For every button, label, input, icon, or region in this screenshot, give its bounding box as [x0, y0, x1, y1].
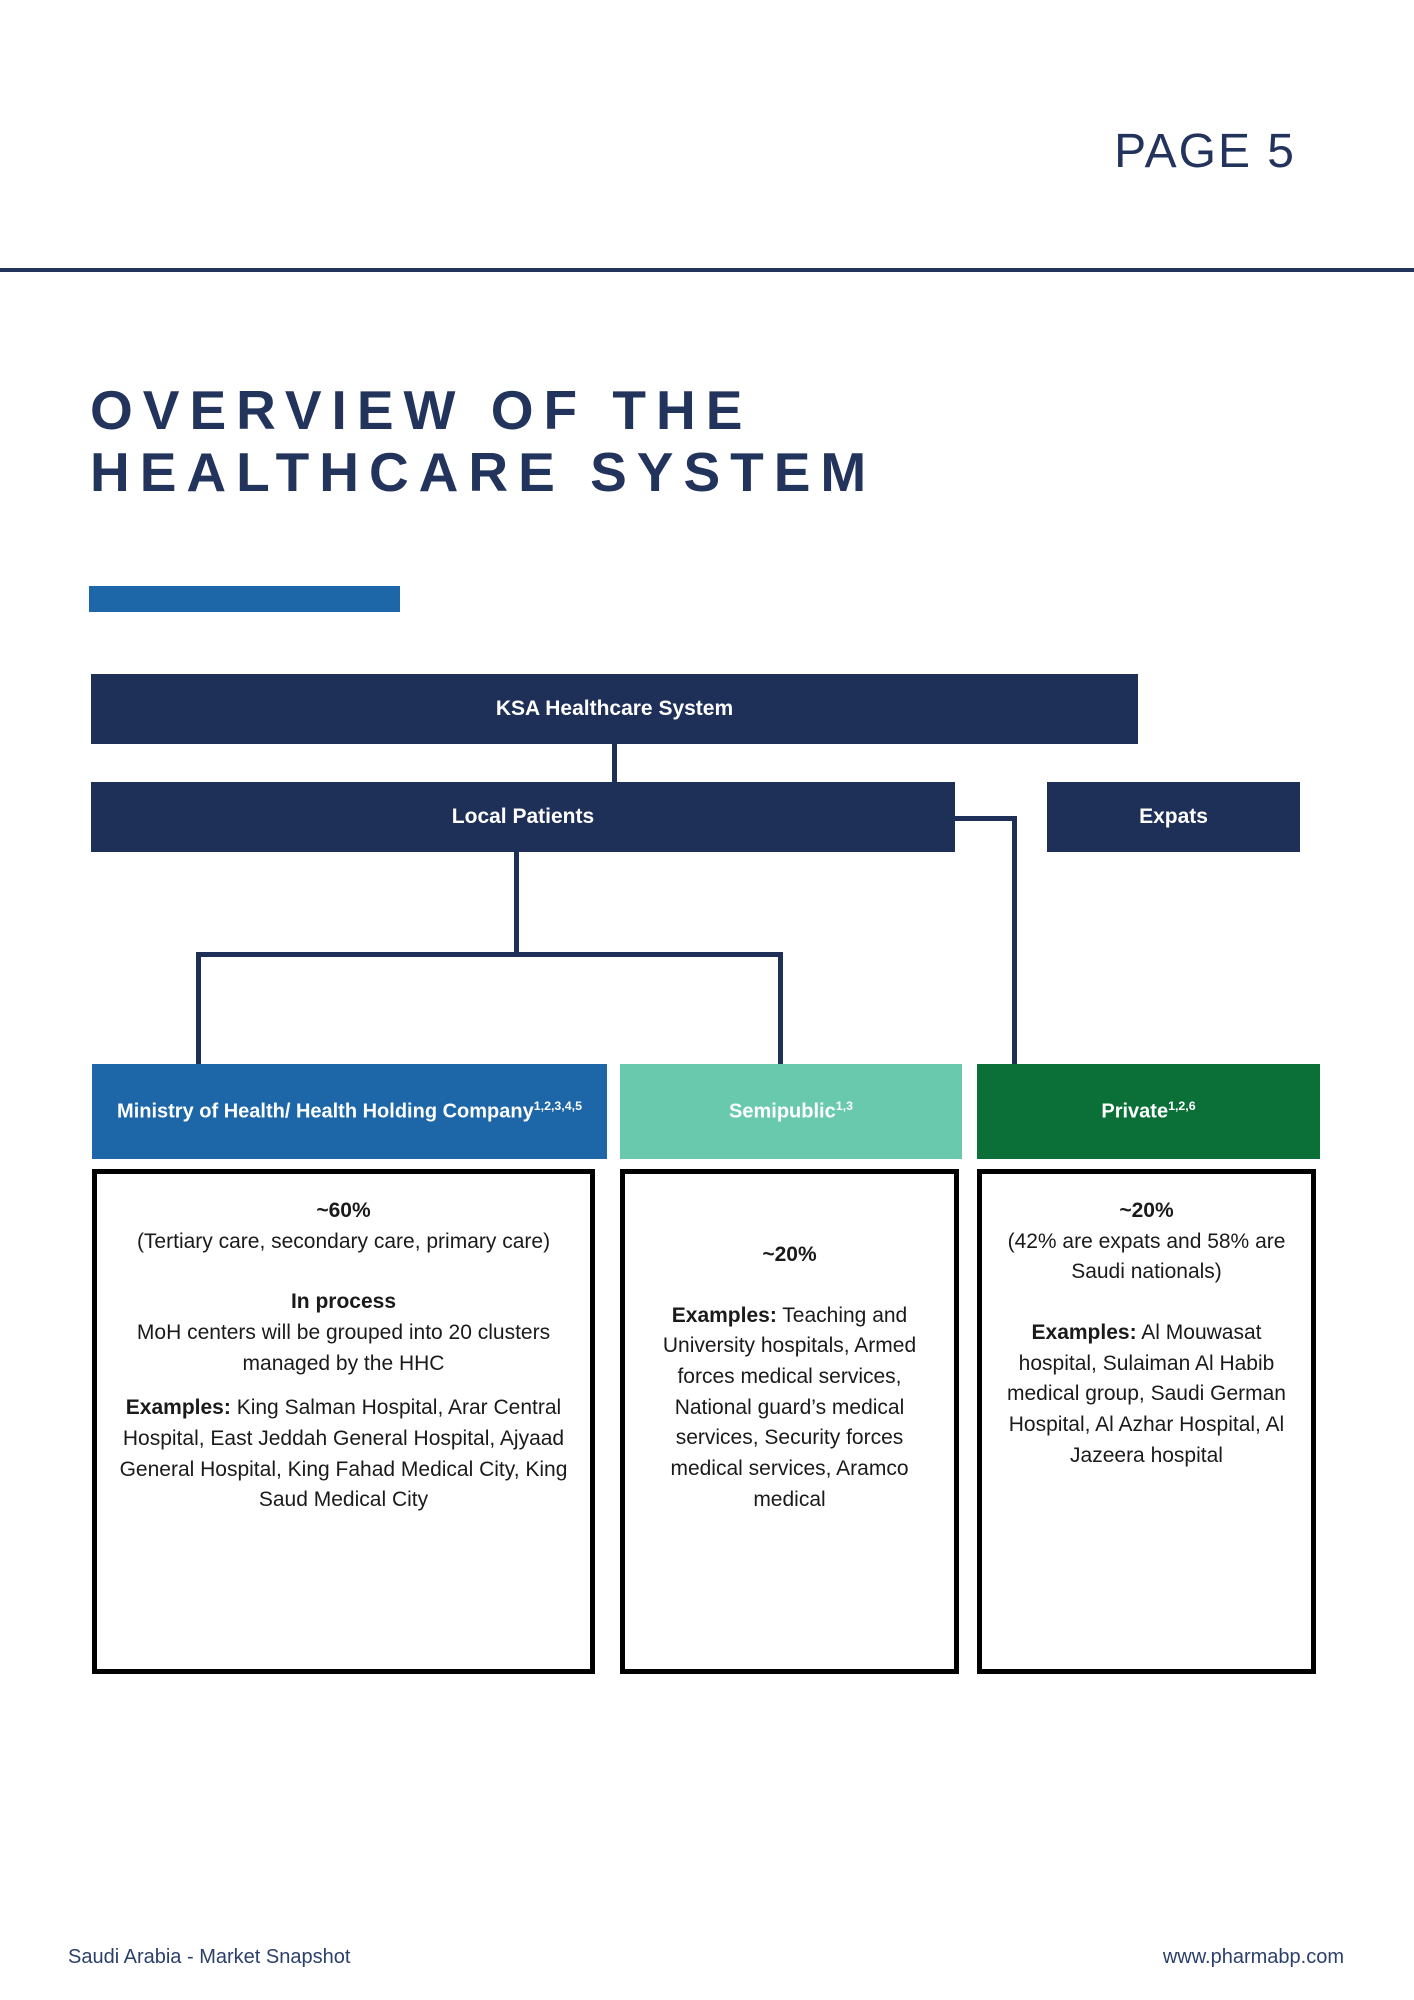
card-examples: Examples: Teaching and University hospit… — [641, 1301, 938, 1516]
connector-local-drop — [514, 852, 519, 955]
spacer — [641, 1271, 938, 1301]
node-local-patients: Local Patients — [91, 782, 955, 852]
spacer — [113, 1379, 574, 1393]
card-status-label: In process — [113, 1287, 574, 1318]
spacer — [641, 1196, 938, 1240]
node-ksa-label: KSA Healthcare System — [496, 697, 733, 721]
footer-left-text: Saudi Arabia - Market Snapshot — [68, 1946, 350, 1969]
connector-local-to-private-horizontal — [955, 816, 1017, 821]
node-ministry-of-health: Ministry of Health/ Health Holding Compa… — [92, 1064, 607, 1159]
connector-bus-to-moh — [196, 952, 201, 1064]
node-semipublic: Semipublic1,3 — [620, 1064, 962, 1159]
card-percent-note: (42% are expats and 58% are Saudi nation… — [998, 1227, 1295, 1288]
connector-tier3-bus — [196, 952, 783, 957]
card-examples-label: Examples: — [1032, 1321, 1137, 1344]
node-ksa-healthcare-system: KSA Healthcare System — [91, 674, 1138, 744]
connector-root-to-local — [612, 744, 617, 782]
card-percent: ~20% — [641, 1240, 938, 1271]
node-private-superscript: 1,2,6 — [1168, 1099, 1196, 1113]
card-examples-text: Teaching and University hospitals, Armed… — [663, 1304, 916, 1511]
card-examples: Examples: Al Mouwasat hospital, Sulaiman… — [998, 1318, 1295, 1471]
node-private: Private1,2,6 — [977, 1064, 1320, 1159]
card-percent: ~60% — [113, 1196, 574, 1227]
connector-local-to-private-vertical — [1012, 816, 1017, 1064]
spacer — [998, 1288, 1295, 1318]
node-local-patients-label: Local Patients — [452, 805, 594, 829]
footer-right-url: www.pharmabp.com — [1163, 1946, 1344, 1969]
detail-card-ministry-of-health: ~60% (Tertiary care, secondary care, pri… — [92, 1169, 595, 1674]
node-semipublic-label: Semipublic — [729, 1101, 836, 1123]
card-examples-label: Examples: — [126, 1396, 231, 1419]
card-percent: ~20% — [998, 1196, 1295, 1227]
node-expats: Expats — [1047, 782, 1300, 852]
spacer — [113, 1257, 574, 1287]
node-ministry-of-health-label: Ministry of Health/ Health Holding Compa… — [117, 1100, 534, 1122]
card-status-text: MoH centers will be grouped into 20 clus… — [113, 1318, 574, 1379]
node-semipublic-superscript: 1,3 — [836, 1099, 853, 1113]
detail-card-private: ~20% (42% are expats and 58% are Saudi n… — [977, 1169, 1316, 1674]
card-examples-label: Examples: — [672, 1304, 777, 1327]
card-percent-note: (Tertiary care, secondary care, primary … — [113, 1227, 574, 1258]
healthcare-system-org-chart: KSA Healthcare System Local Patients Exp… — [0, 0, 1414, 2000]
node-ministry-of-health-superscript: 1,2,3,4,5 — [534, 1099, 582, 1113]
document-page: PAGE 5 OVERVIEW OF THE HEALTHCARE SYSTEM… — [0, 0, 1414, 2000]
card-examples: Examples: King Salman Hospital, Arar Cen… — [113, 1393, 574, 1516]
node-expats-label: Expats — [1139, 805, 1208, 829]
detail-card-semipublic: ~20% Examples: Teaching and University h… — [620, 1169, 959, 1674]
connector-bus-to-semipublic — [778, 952, 783, 1064]
node-private-label: Private — [1101, 1101, 1168, 1123]
